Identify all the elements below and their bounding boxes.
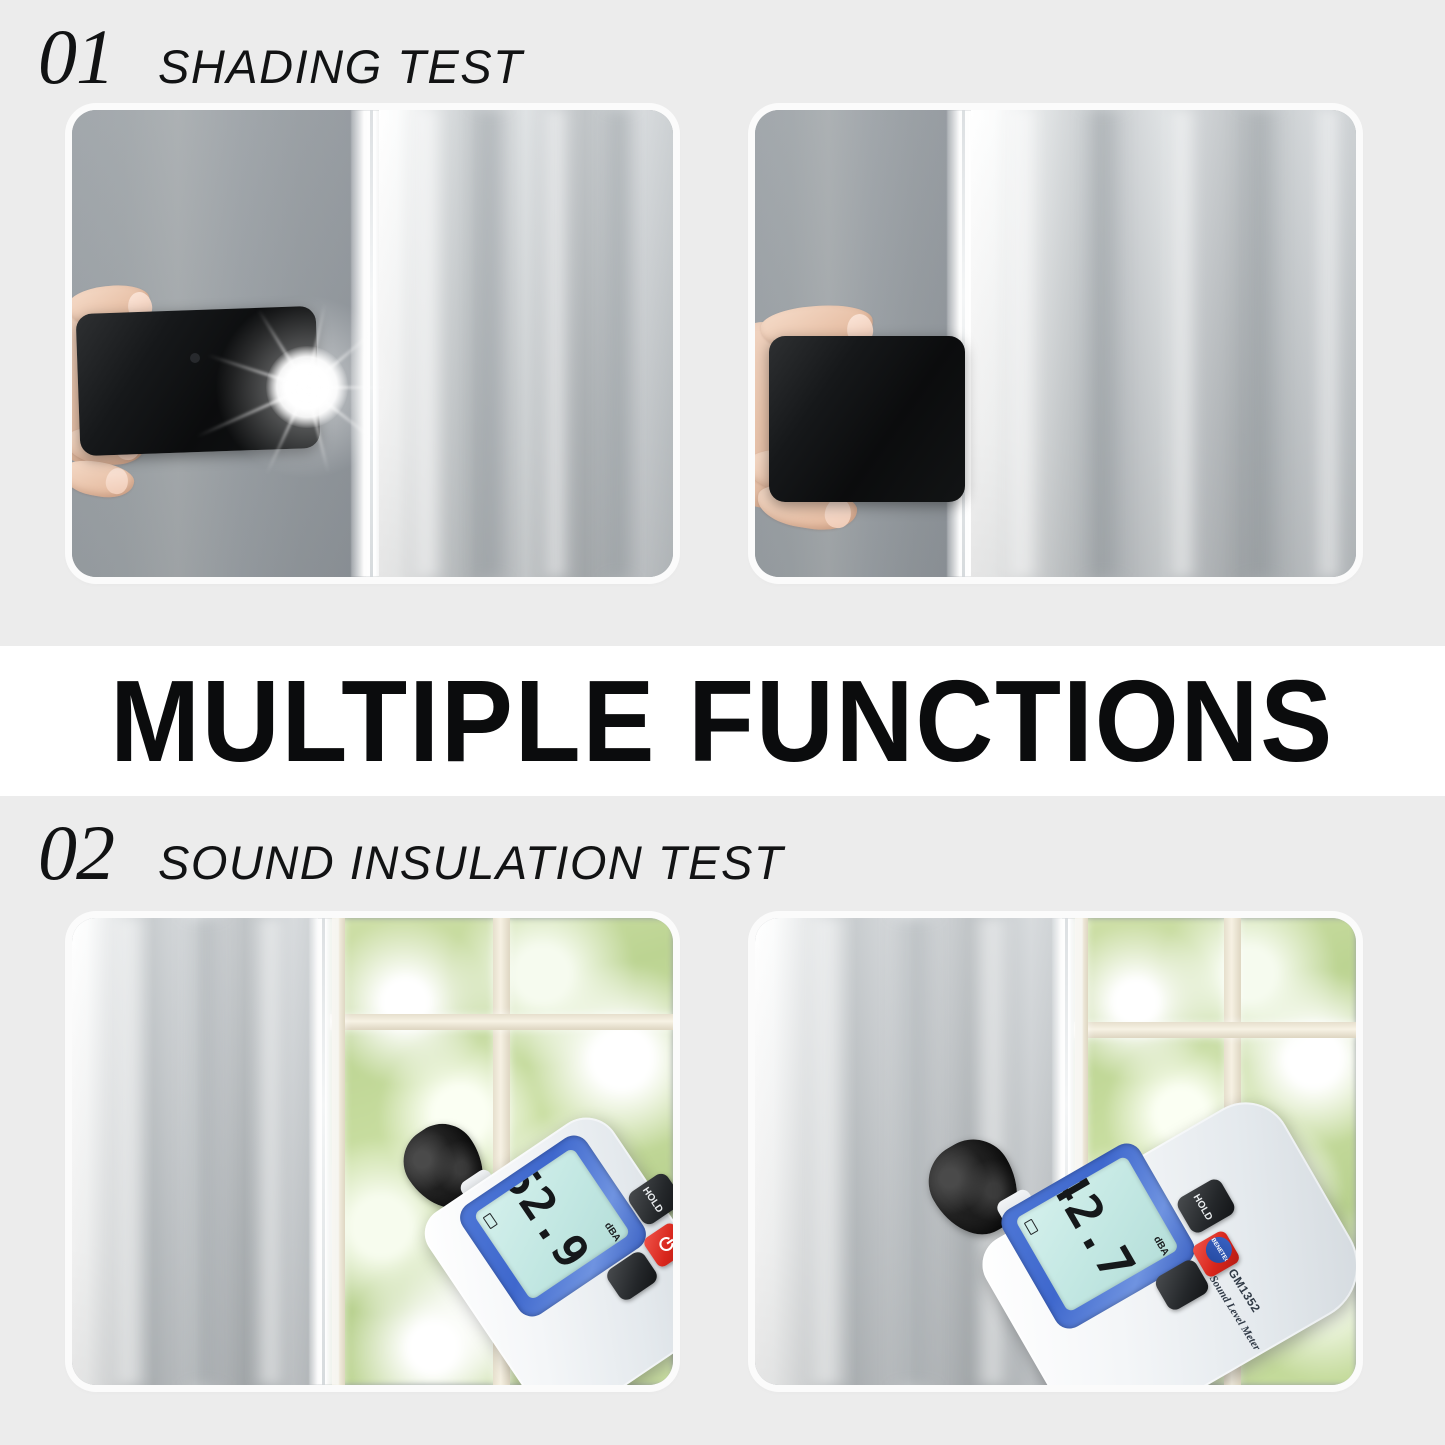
flashlight-ray (307, 386, 393, 389)
section-title-01: SHADING TEST (158, 43, 523, 90)
lcd-reading-value: 42.7 (1038, 1159, 1146, 1291)
lcd-unit-label: dBA (1151, 1234, 1171, 1257)
curtain-fold-highlight-2 (541, 110, 571, 577)
panel-flashlight-on-front-of-curtain (72, 110, 673, 577)
section-heading-01: 01 SHADING TEST (0, 0, 1445, 96)
curtain-seam-stitch (322, 918, 325, 1385)
phone-camera-lens (190, 353, 200, 363)
curtain-fold-highlight-1 (803, 918, 851, 1385)
curtain-fold-highlight-1 (1001, 110, 1043, 577)
window-mullion-horizontal (330, 1014, 673, 1030)
section-title-02: SOUND INSULATION TEST (158, 839, 784, 886)
panel-sound-meter-at-window: 52.9 dBA HOLD ⏻ (72, 918, 673, 1385)
shading-test-panel-row (0, 110, 1445, 577)
photo-meter-curtain: 42.7 dBA HOLD ⏻ BENETECH GM1352 Sound Le… (755, 918, 1356, 1385)
lcd-unit-label: dBA (602, 1220, 623, 1243)
curtain-fold-shadow-2 (1236, 110, 1284, 577)
hold-button-label: HOLD (1191, 1192, 1215, 1222)
curtain-fold-shadow-1 (1080, 110, 1128, 577)
hold-button-label: HOLD (640, 1185, 665, 1215)
curtain-fold-shadow-1 (469, 110, 511, 577)
curtain-fold-highlight-2 (1164, 110, 1200, 577)
sound-level-meter-right: 42.7 dBA HOLD ⏻ BENETECH GM1352 Sound Le… (923, 1106, 1356, 1385)
panel-sound-meter-at-curtain: 42.7 dBA HOLD ⏻ BENETECH GM1352 Sound Le… (755, 918, 1356, 1385)
sound-level-meter-left: 52.9 dBA HOLD ⏻ (404, 1116, 673, 1385)
section-heading-02: 02 SOUND INSULATION TEST (0, 800, 784, 892)
window-mullion-horizontal (1074, 1022, 1356, 1038)
banner-multiple-functions: MULTIPLE FUNCTIONS (0, 646, 1445, 796)
photo-flashlight-behind (755, 110, 1356, 577)
lcd-battery-icon (1024, 1219, 1039, 1236)
photo-meter-window: 52.9 dBA HOLD ⏻ (72, 918, 673, 1385)
section-number-01: 01 (38, 18, 114, 96)
curtain-fold-highlight-1 (108, 918, 150, 1385)
curtain-fold-highlight-2 (252, 918, 288, 1385)
smartphone (769, 336, 965, 502)
curtain-fold-highlight-1 (409, 110, 445, 577)
sound-insulation-panel-row: 52.9 dBA HOLD ⏻ (0, 918, 1445, 1385)
lcd-battery-icon (483, 1213, 498, 1230)
panel-flashlight-behind-curtain (755, 110, 1356, 577)
curtain-fold-shadow-1 (180, 918, 228, 1385)
power-icon: ⏻ (653, 1233, 673, 1257)
curtain-fold-shadow-2 (601, 110, 637, 577)
curtain-fold-highlight-3 (1314, 110, 1344, 577)
photo-flashlight-front (72, 110, 673, 577)
section-number-02: 02 (38, 814, 114, 892)
banner-headline: MULTIPLE FUNCTIONS (110, 663, 1334, 779)
